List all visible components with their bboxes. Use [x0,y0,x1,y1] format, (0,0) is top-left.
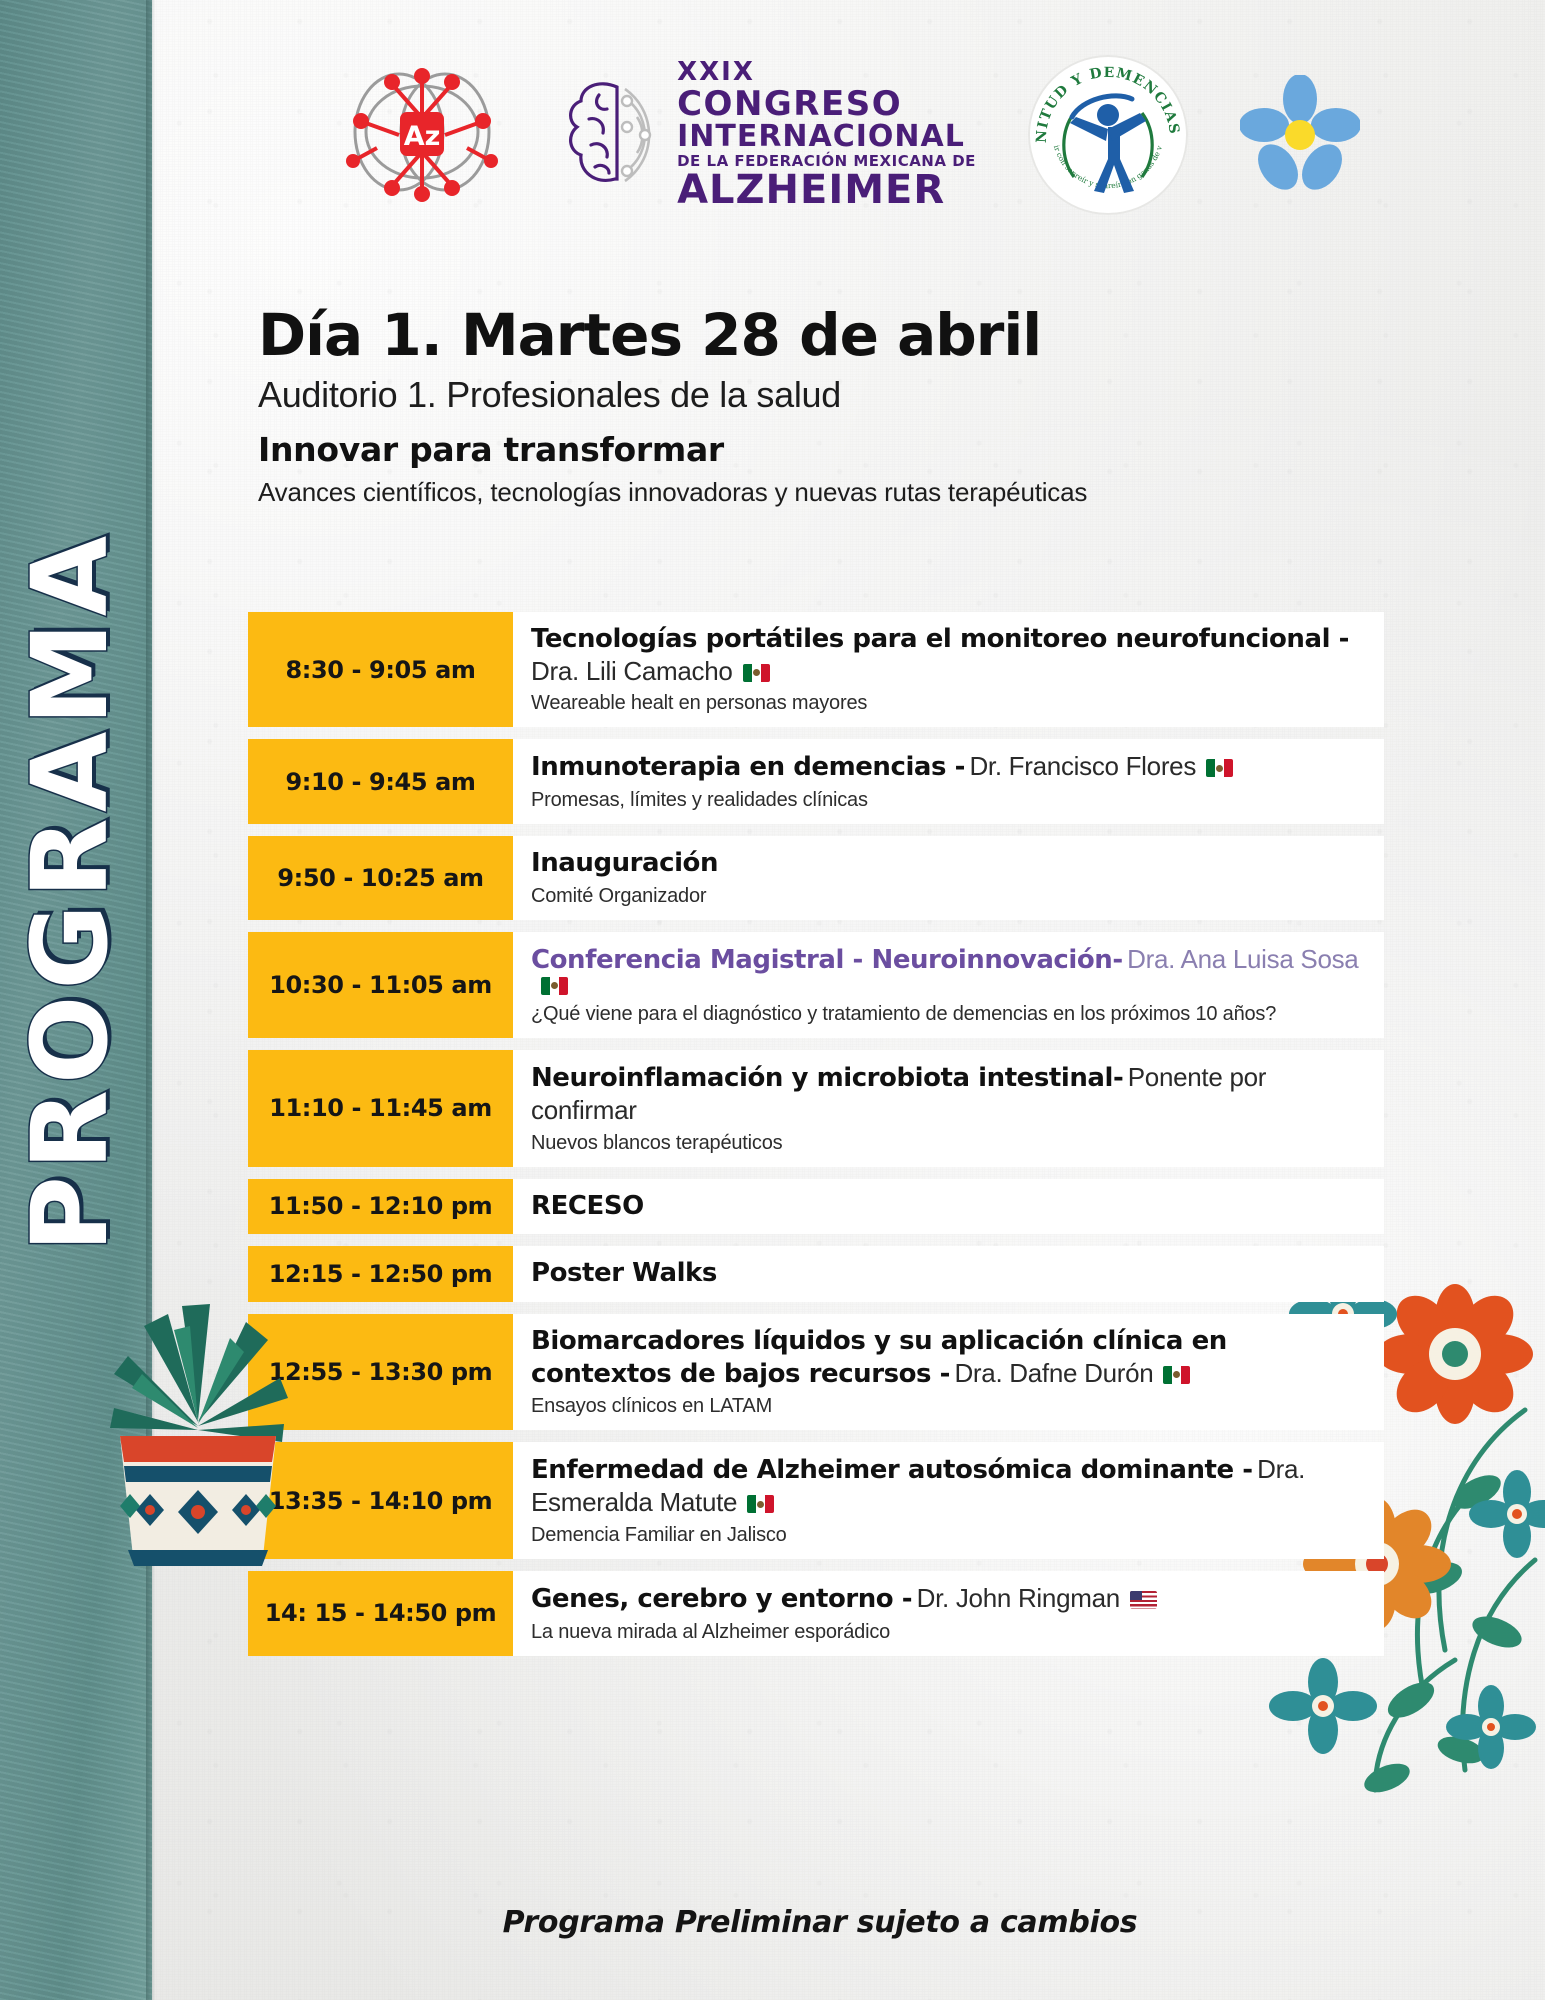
agave-pot-decoration [70,1270,330,1570]
logo-strip: Az [152,52,1545,217]
schedule-subtitle: Demencia Familiar en Jalisco [531,1524,1362,1547]
az-network-icon: Az [337,60,507,210]
plenitud-badge-icon: PLENITUD Y DEMENCIAS A.C. "Vivir con son… [1028,55,1188,215]
schedule-subtitle: Ensayos clínicos en LATAM [531,1395,1362,1418]
schedule-time: 9:50 - 10:25 am [248,836,513,920]
schedule-speaker: Dr. Francisco Flores [969,751,1196,781]
congress-edition: XXIX [677,59,976,85]
schedule-row: 9:50 - 10:25 amInauguraciónComité Organi… [248,836,1384,920]
schedule-time: 14: 15 - 14:50 pm [248,1571,513,1656]
schedule-description: Poster Walks [513,1246,1384,1302]
congress-line-2: INTERNACIONAL [677,122,976,152]
schedule-subtitle: Promesas, límites y realidades clínicas [531,789,1362,812]
schedule-talk-title: Inmunoterapia en demencias - [531,752,965,782]
schedule-row: 11:10 - 11:45 amNeuroinflamación y micro… [248,1050,1384,1166]
svg-text:Az: Az [404,121,441,152]
schedule-headline: Poster Walks [531,1258,1362,1290]
schedule-headline: Inauguración [531,848,1362,880]
usa-flag-icon [1130,1591,1157,1609]
schedule-time: 11:10 - 11:45 am [248,1050,513,1166]
schedule-row: 12:15 - 12:50 pmPoster Walks [248,1246,1384,1302]
schedule-description: Enfermedad de Alzheimer autosómica domin… [513,1442,1384,1558]
schedule-description: Conferencia Magistral - Neuroinnovación-… [513,932,1384,1038]
schedule-talk-title: Inauguración [531,848,718,878]
congress-logo: XXIX CONGRESO INTERNACIONAL DE LA FEDERA… [559,59,976,210]
schedule-row: 9:10 - 9:45 amInmunoterapia en demencias… [248,739,1384,824]
auditorium-subtitle: Auditorio 1. Profesionales de la salud [258,374,1368,416]
schedule-subtitle: Weareable healt en personas mayores [531,692,1362,715]
schedule-description: InauguraciónComité Organizador [513,836,1384,920]
schedule-talk-title: Poster Walks [531,1258,717,1288]
forget-me-not-flower-icon [1240,75,1360,195]
mexico-flag-icon [743,664,770,682]
schedule-speaker: Dr. John Ringman [917,1583,1120,1613]
schedule-time: 9:10 - 9:45 am [248,739,513,824]
schedule-headline: RECESO [531,1191,1362,1223]
schedule-speaker: Dra. Lili Camacho [531,656,733,686]
schedule-row: 8:30 - 9:05 amTecnologías portátiles par… [248,612,1384,727]
schedule-description: Neuroinflamación y microbiota intestinal… [513,1050,1384,1166]
schedule-talk-title: RECESO [531,1191,644,1221]
schedule-talk-title: Neuroinflamación y microbiota intestinal… [531,1063,1123,1093]
schedule-list: 8:30 - 9:05 amTecnologías portátiles par… [248,612,1384,1668]
schedule-time: 8:30 - 9:05 am [248,612,513,727]
schedule-talk-title: Tecnologías portátiles para el monitoreo… [531,624,1349,654]
schedule-headline: Enfermedad de Alzheimer autosómica domin… [531,1454,1362,1518]
mexico-flag-icon [541,977,568,995]
schedule-speaker: Dra. Dafne Durón [954,1358,1153,1388]
schedule-headline: Tecnologías portátiles para el monitoreo… [531,624,1362,687]
az-logo: Az [337,60,507,210]
slogan: Innovar para transformar [258,430,1368,469]
congress-line-1: CONGRESO [677,87,976,121]
schedule-time: 10:30 - 11:05 am [248,932,513,1038]
congress-line-4: ALZHEIMER [677,170,976,210]
brain-icon [559,75,669,195]
schedule-subtitle: La nueva mirada al Alzheimer esporádico [531,1621,1362,1644]
schedule-talk-title: Conferencia Magistral - Neuroinnovación- [531,945,1123,975]
schedule-description: RECESO [513,1179,1384,1235]
schedule-subtitle: Comité Organizador [531,885,1362,908]
schedule-headline: Conferencia Magistral - Neuroinnovación-… [531,944,1362,998]
programa-vertical-label: PROGRAMA [9,491,131,1291]
congress-wordmark: XXIX CONGRESO INTERNACIONAL DE LA FEDERA… [677,59,976,210]
schedule-headline: Neuroinflamación y microbiota intestinal… [531,1062,1362,1126]
sidebar-edge-shadow [146,0,155,2000]
schedule-headline: Inmunoterapia en demencias - Dr. Francis… [531,751,1362,784]
footer-note: Programa Preliminar sujeto a cambios [250,1905,1390,1940]
schedule-headline: Biomarcadores líquidos y su aplicación c… [531,1326,1362,1390]
schedule-description: Inmunoterapia en demencias - Dr. Francis… [513,739,1384,824]
schedule-row: 11:50 - 12:10 pmRECESO [248,1179,1384,1235]
schedule-description: Genes, cerebro y entorno - Dr. John Ring… [513,1571,1384,1656]
plenitud-logo: PLENITUD Y DEMENCIAS A.C. "Vivir con son… [1028,55,1188,215]
schedule-subtitle: ¿Qué viene para el diagnóstico y tratami… [531,1003,1362,1026]
schedule-subtitle: Nuevos blancos terapéuticos [531,1132,1362,1155]
schedule-row: 14: 15 - 14:50 pmGenes, cerebro y entorn… [248,1571,1384,1656]
schedule-speaker: Dra. Ana Luisa Sosa [1127,944,1358,974]
header-titles: Día 1. Martes 28 de abril Auditorio 1. P… [258,305,1368,508]
schedule-time: 11:50 - 12:10 pm [248,1179,513,1235]
schedule-talk-title: Enfermedad de Alzheimer autosómica domin… [531,1455,1253,1485]
schedule-description: Tecnologías portátiles para el monitoreo… [513,612,1384,727]
page-title: Día 1. Martes 28 de abril [258,305,1368,366]
mexico-flag-icon [1206,759,1233,777]
schedule-description: Biomarcadores líquidos y su aplicación c… [513,1314,1384,1430]
schedule-row: 12:55 - 13:30 pmBiomarcadores líquidos y… [248,1314,1384,1430]
poster-canvas: PROGRAMA Az [0,0,1545,2000]
mexico-flag-icon [747,1495,774,1513]
schedule-row: 13:35 - 14:10 pmEnfermedad de Alzheimer … [248,1442,1384,1558]
schedule-headline: Genes, cerebro y entorno - Dr. John Ring… [531,1583,1362,1616]
schedule-talk-title: Genes, cerebro y entorno - [531,1584,912,1614]
flower-logo [1240,75,1360,195]
slogan-subtitle: Avances científicos, tecnologías innovad… [258,477,1368,508]
mexico-flag-icon [1163,1366,1190,1384]
schedule-row: 10:30 - 11:05 amConferencia Magistral - … [248,932,1384,1038]
